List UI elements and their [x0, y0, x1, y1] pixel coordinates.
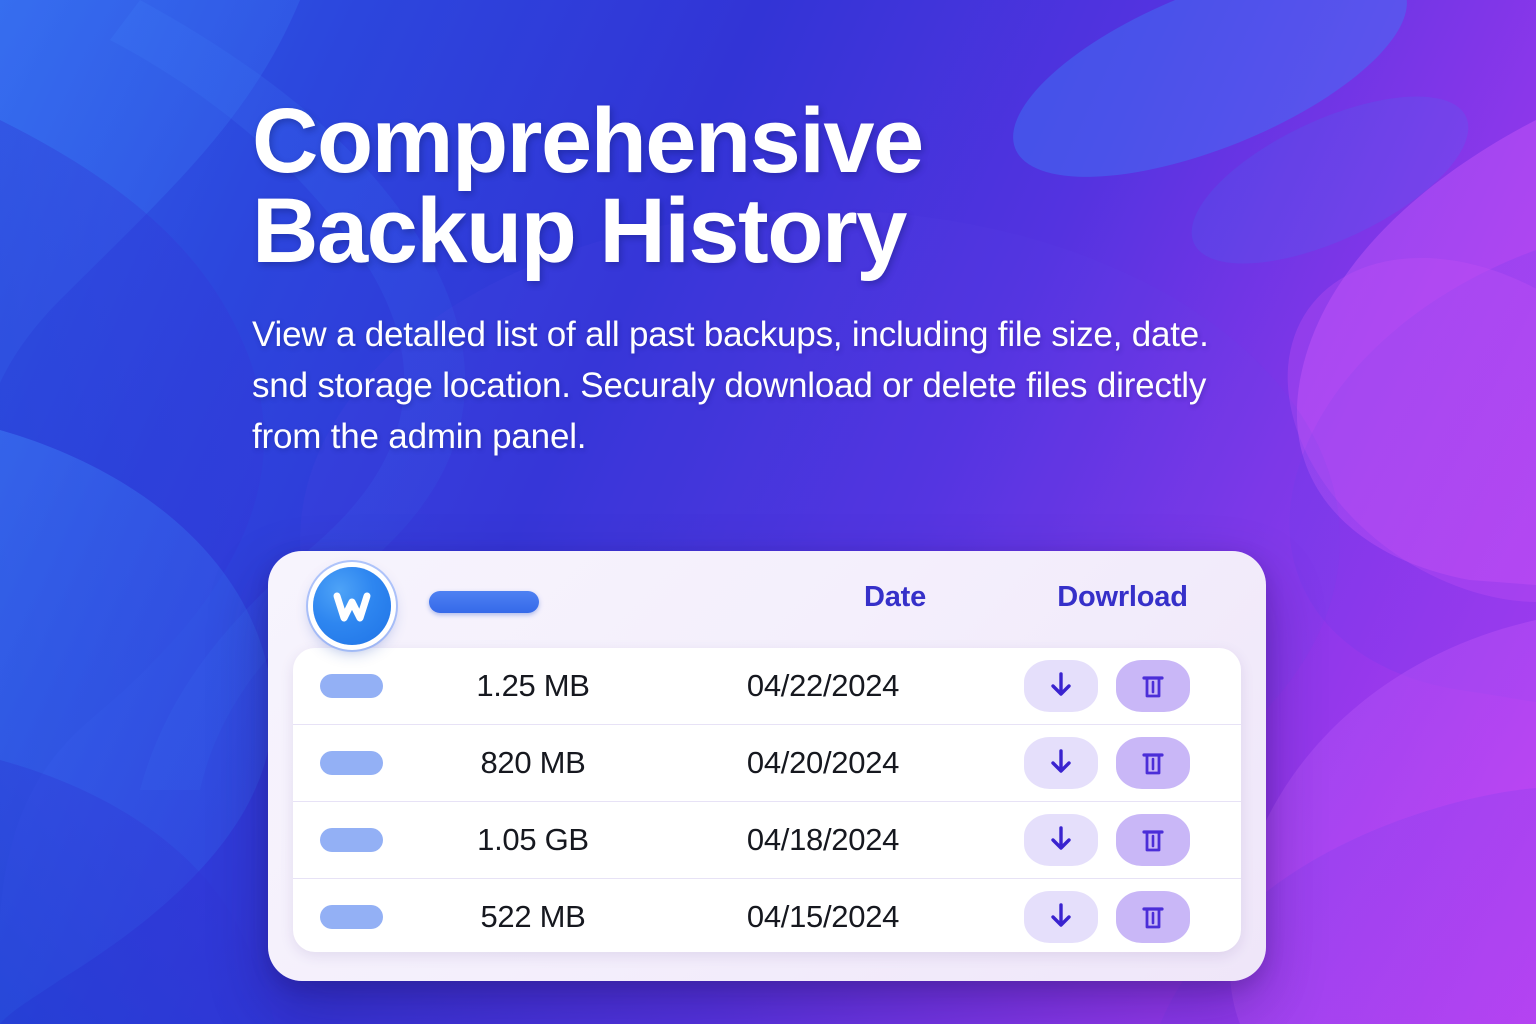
cell-file-size: 820 MB: [413, 745, 653, 781]
table-row[interactable]: 820 MB 04/20/2024: [293, 725, 1241, 802]
download-arrow-icon: [1048, 825, 1074, 855]
table-row[interactable]: 1.05 GB 04/18/2024: [293, 802, 1241, 879]
table-header: Date Dowrload: [268, 551, 1266, 648]
cell-file-size: 1.05 GB: [413, 822, 653, 858]
delete-button[interactable]: [1116, 660, 1190, 712]
row-actions: [1008, 737, 1223, 789]
trash-icon: [1140, 671, 1166, 701]
cell-date: 04/20/2024: [683, 745, 963, 781]
column-header-date: Date: [792, 581, 998, 614]
poster-canvas: Comprehensive Backup History View a deta…: [0, 0, 1536, 1024]
backup-history-card: Date Dowrload 1.25 MB 04/22/2024: [268, 551, 1266, 981]
row-name-placeholder: [320, 905, 383, 929]
row-actions: [1008, 891, 1223, 943]
download-button[interactable]: [1024, 891, 1098, 943]
row-actions: [1008, 814, 1223, 866]
download-arrow-icon: [1048, 671, 1074, 701]
row-name-placeholder: [320, 751, 383, 775]
cell-date: 04/18/2024: [683, 822, 963, 858]
download-arrow-icon: [1048, 748, 1074, 778]
table-row[interactable]: 522 MB 04/15/2024: [293, 879, 1241, 952]
download-button[interactable]: [1024, 814, 1098, 866]
cell-date: 04/15/2024: [683, 899, 963, 935]
trash-icon: [1140, 748, 1166, 778]
cell-file-size: 1.25 MB: [413, 668, 653, 704]
download-button[interactable]: [1024, 660, 1098, 712]
hero-block: Comprehensive Backup History View a deta…: [252, 96, 1312, 463]
w-glyph-icon: [326, 580, 378, 632]
column-header-name-placeholder: [429, 591, 539, 613]
column-header-download: Dowrload: [1013, 581, 1232, 614]
row-name-placeholder: [320, 674, 383, 698]
page-title: Comprehensive Backup History: [252, 96, 1312, 276]
cell-file-size: 522 MB: [413, 899, 653, 935]
page-subtitle: View a detalled list of all past backups…: [252, 276, 1272, 462]
delete-button[interactable]: [1116, 737, 1190, 789]
row-actions: [1008, 660, 1223, 712]
delete-button[interactable]: [1116, 891, 1190, 943]
row-name-placeholder: [320, 828, 383, 852]
table-row[interactable]: 1.25 MB 04/22/2024: [293, 648, 1241, 725]
wordpress-w-logo-icon: [313, 567, 391, 645]
download-arrow-icon: [1048, 902, 1074, 932]
download-button[interactable]: [1024, 737, 1098, 789]
delete-button[interactable]: [1116, 814, 1190, 866]
trash-icon: [1140, 902, 1166, 932]
backup-table: 1.25 MB 04/22/2024: [293, 648, 1241, 952]
cell-date: 04/22/2024: [683, 668, 963, 704]
trash-icon: [1140, 825, 1166, 855]
